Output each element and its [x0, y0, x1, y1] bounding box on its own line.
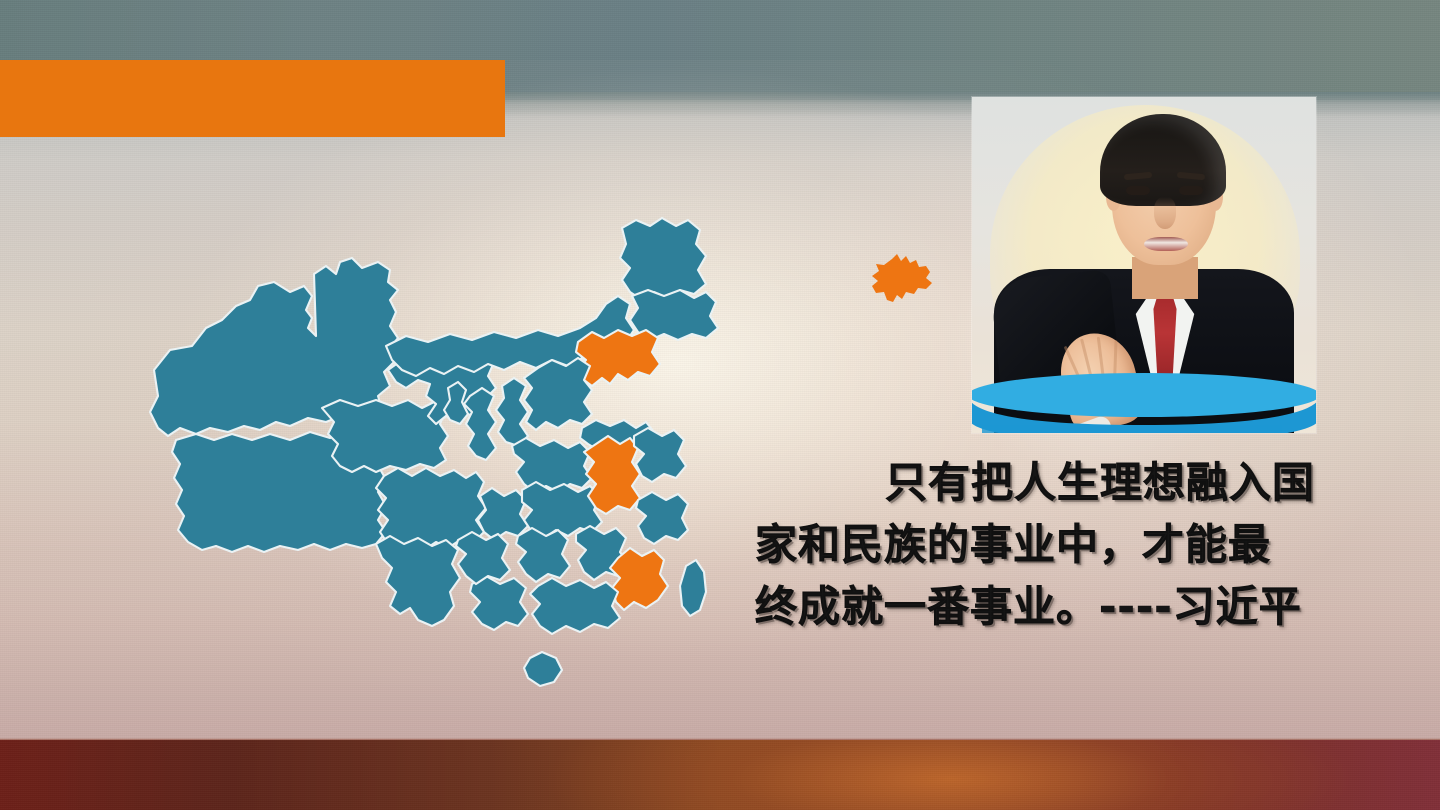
speaker-portrait-photo [972, 97, 1316, 433]
province-shaanxi [464, 388, 496, 460]
province-chongqing [478, 488, 528, 540]
background-bottom-band [0, 740, 1440, 810]
quote-line-2: 家和民族的事业中，才能最 [755, 514, 1405, 576]
portrait-nose [1154, 197, 1176, 229]
province-zhejiang [636, 492, 688, 544]
province-heilongjiang [620, 218, 706, 300]
province-guizhou [456, 532, 510, 584]
presentation-slide: 只有把人生理想融入国 家和民族的事业中，才能最 终成就一番事业。----习近平 [0, 0, 1440, 810]
province-jiangsu [634, 428, 686, 482]
province-shanxi [496, 378, 528, 446]
province-anhui-highlight [584, 436, 640, 514]
quote-line-3: 终成就一番事业。----习近平 [755, 576, 1405, 638]
title-bar-text [0, 60, 505, 96]
title-bar[interactable] [0, 60, 505, 137]
portrait-eye-right [1179, 186, 1203, 195]
podium-top [972, 373, 1316, 417]
province-henan [512, 438, 592, 492]
quote-block: 只有把人生理想融入国 家和民族的事业中，才能最 终成就一番事业。----习近平 [755, 452, 1405, 638]
province-hunan [516, 528, 570, 582]
quote-line-1: 只有把人生理想融入国 [755, 452, 1405, 514]
portrait-eye-left [1126, 186, 1150, 195]
province-liaoning-highlight [576, 330, 660, 386]
china-map[interactable] [140, 200, 740, 720]
province-fujian-highlight [610, 548, 668, 610]
province-qinghai [322, 400, 448, 472]
province-guangdong [530, 578, 620, 634]
portrait-mouth [1144, 237, 1188, 251]
province-taiwan [680, 560, 706, 616]
province-guangxi [470, 576, 528, 630]
detached-province-shape[interactable] [866, 252, 938, 314]
shandong-shape [872, 254, 932, 302]
portrait-podium [972, 369, 1316, 433]
podium-base-shadow [982, 425, 1282, 433]
province-yunnan [376, 536, 460, 626]
province-hebei [524, 358, 592, 430]
province-hainan [524, 652, 562, 686]
